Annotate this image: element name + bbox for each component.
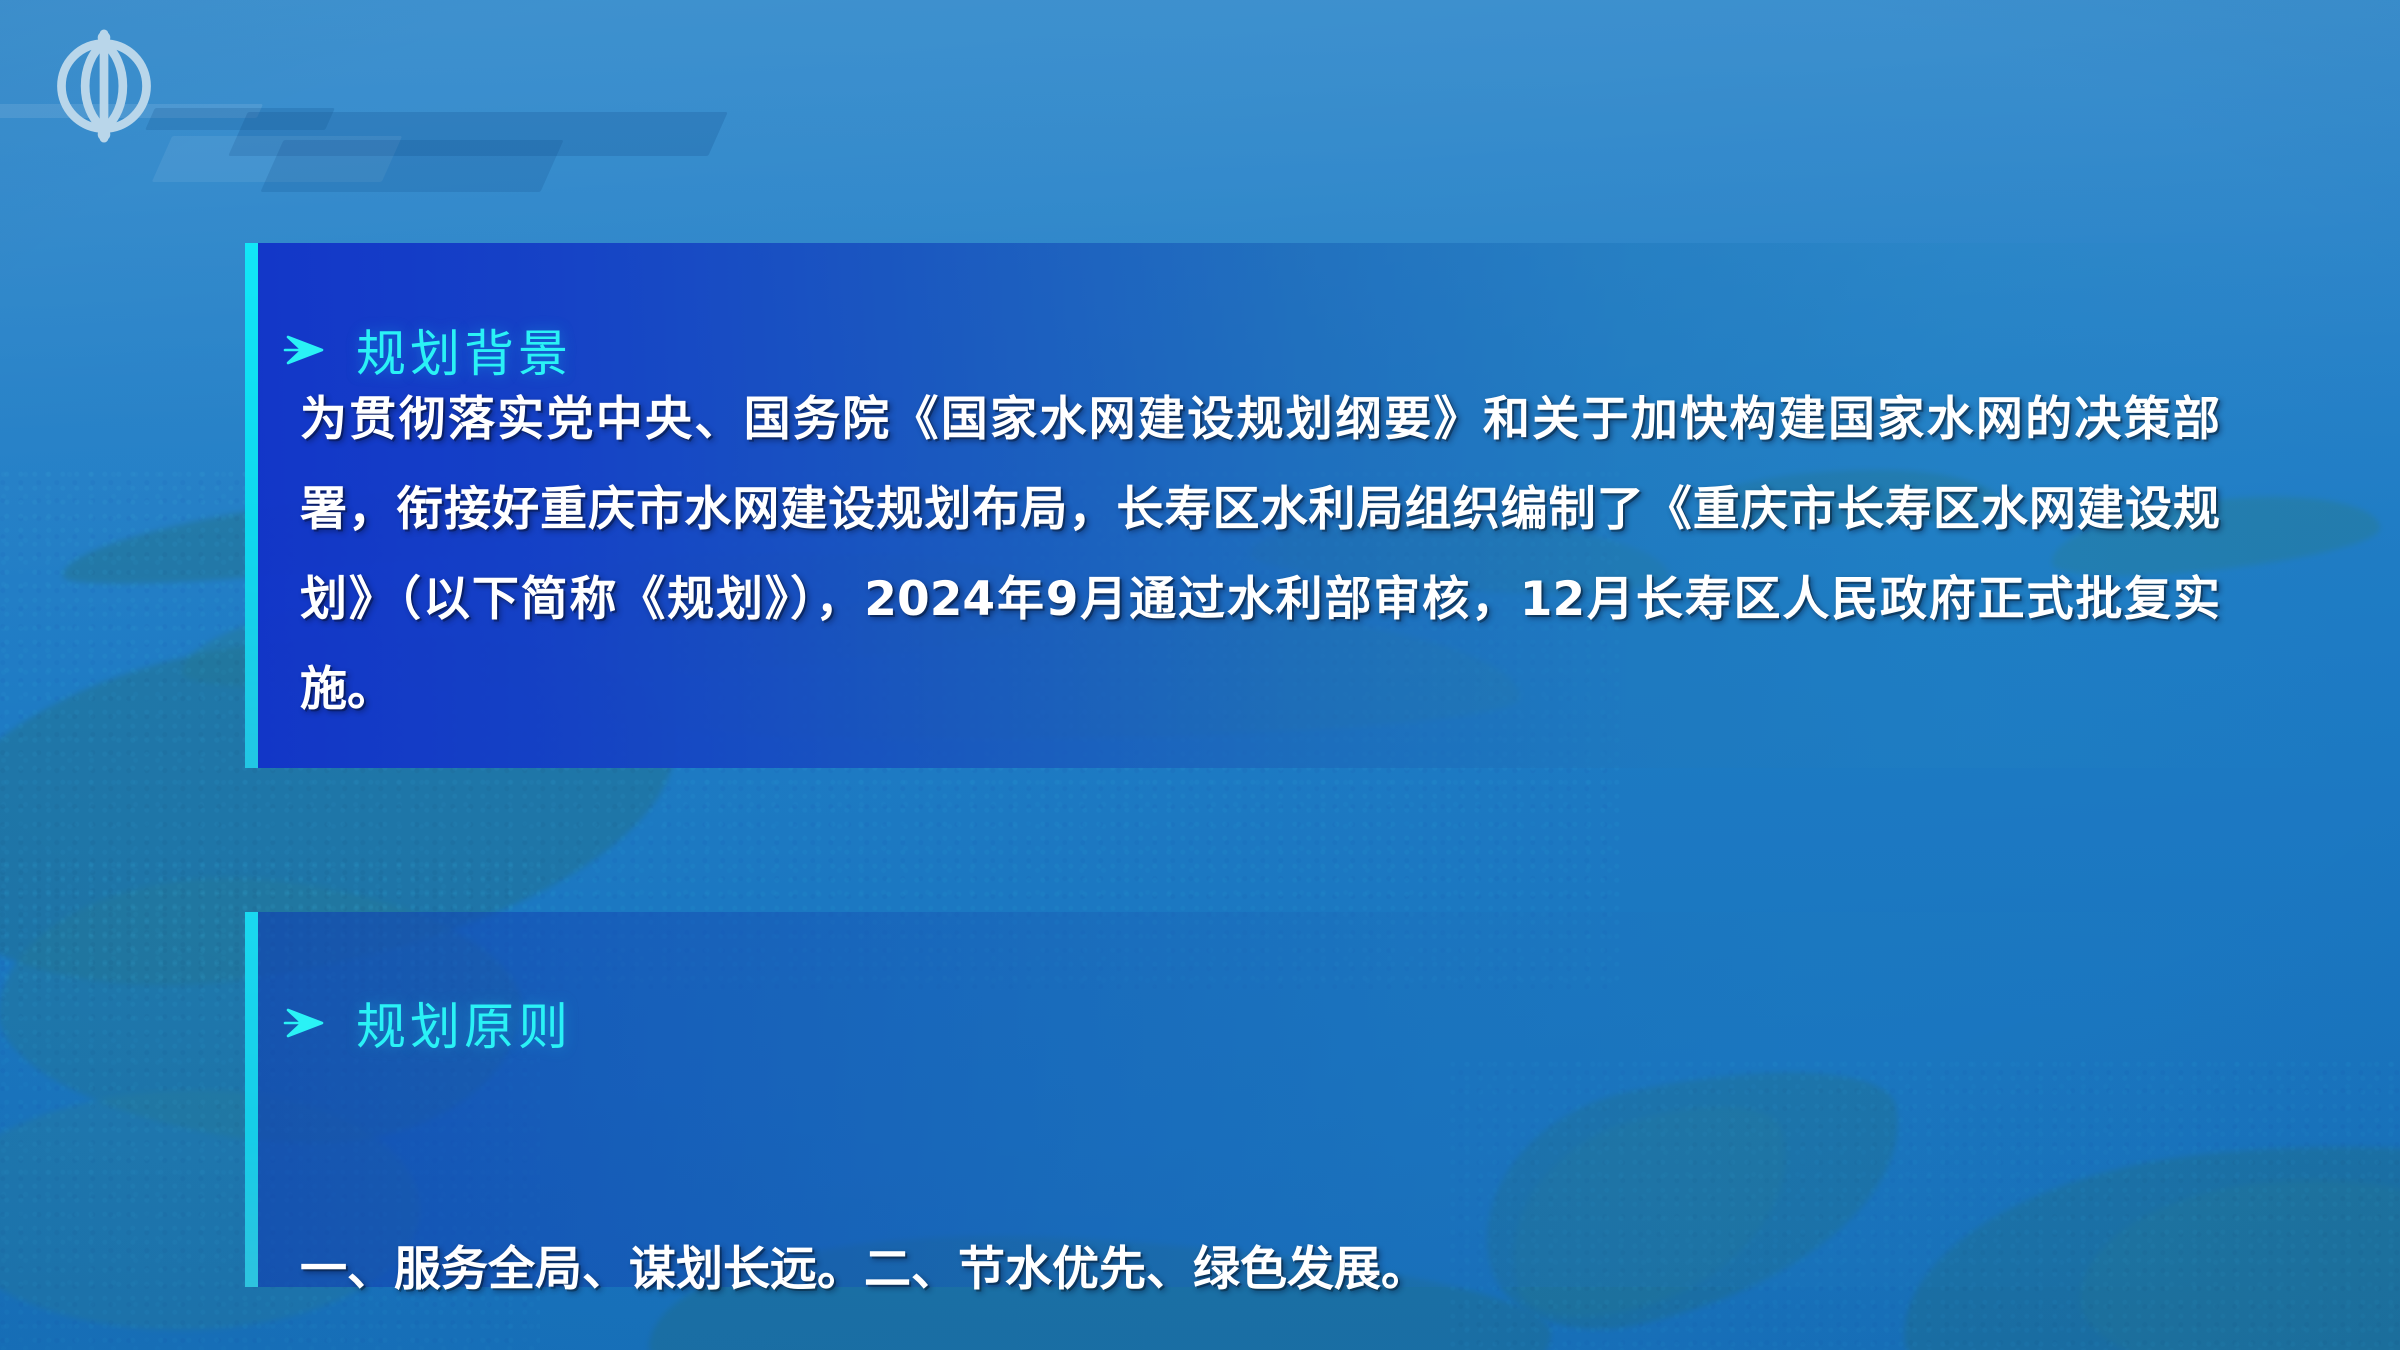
- slide-canvas: 规划背景 为贯彻落实党中央、国务院《国家水网建设规划纲要》和关于加快构建国家水网…: [0, 0, 2400, 1350]
- section-body-background: 为贯彻落实党中央、国务院《国家水网建设规划纲要》和关于加快构建国家水网的决策部署…: [300, 375, 2220, 735]
- panel-accent-bar: [245, 243, 258, 768]
- decorative-stripe-band: [260, 140, 563, 192]
- triangle-arrow-bullet-icon: [282, 333, 326, 367]
- water-conservancy-emblem-icon: [46, 28, 162, 144]
- principle-line: 一、服务全局、谋划长远。二、节水优先、绿色发展。: [300, 1224, 2220, 1316]
- triangle-arrow-bullet-icon: [282, 1006, 326, 1040]
- slide-header: [0, 0, 900, 200]
- section-body-principles: 一、服务全局、谋划长远。二、节水优先、绿色发展。 三、系统规划、风险管控。四、改…: [300, 1040, 2220, 1350]
- panel-accent-bar: [245, 912, 258, 1287]
